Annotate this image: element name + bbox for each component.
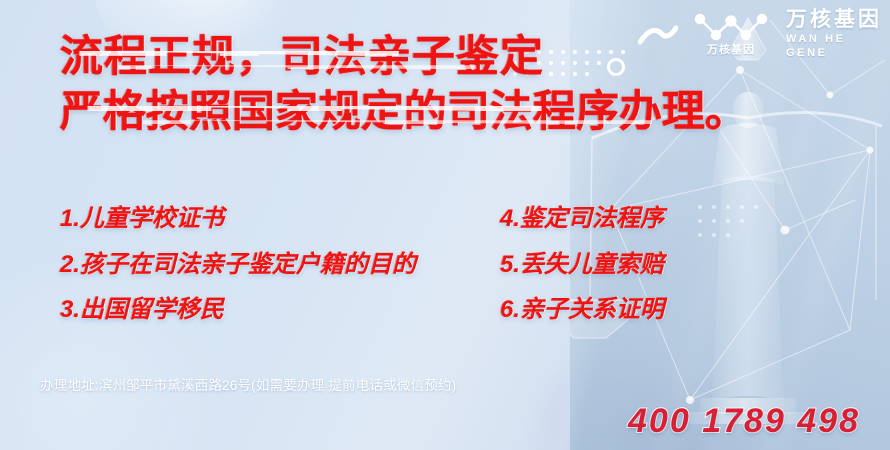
services-column-left: 1.儿童学校证书 2.孩子在司法亲子鉴定户籍的目的 3.出国留学移民 [60, 196, 500, 333]
promo-banner: 万核基因 万核基因 WAN HE GENE 流程正规，司法亲子鉴定 严格按照国家… [0, 0, 890, 450]
brand-name-block: 万核基因 WAN HE GENE [786, 8, 890, 61]
services-list: 1.儿童学校证书 2.孩子在司法亲子鉴定户籍的目的 3.出国留学移民 4.鉴定司… [60, 196, 760, 333]
headline-block: 流程正规，司法亲子鉴定 严格按照国家规定的司法程序办理。 [60, 30, 760, 140]
headline-line-1: 流程正规，司法亲子鉴定 [60, 30, 544, 85]
contact-phone-number[interactable]: 400 1789 498 [628, 402, 860, 441]
service-item: 2.孩子在司法亲子鉴定户籍的目的 [60, 242, 500, 288]
brand-name-cn: 万核基因 [786, 8, 890, 32]
services-column-right: 4.鉴定司法程序 5.丢失儿童索赔 6.亲子关系证明 [500, 196, 664, 333]
headline-line-2: 严格按照国家规定的司法程序办理。 [60, 85, 748, 140]
office-address: 办理地址:滨州邹平市黛溪西路26号(如需要办理 提前电话或微信预约) [40, 374, 456, 394]
service-item: 3.出国留学移民 [60, 287, 500, 333]
service-item: 5.丢失儿童索赔 [500, 242, 664, 288]
brand-name-en: WAN HE GENE [786, 32, 890, 61]
service-item: 4.鉴定司法程序 [500, 196, 664, 242]
service-item: 1.儿童学校证书 [60, 196, 500, 242]
service-item: 6.亲子关系证明 [500, 287, 664, 333]
